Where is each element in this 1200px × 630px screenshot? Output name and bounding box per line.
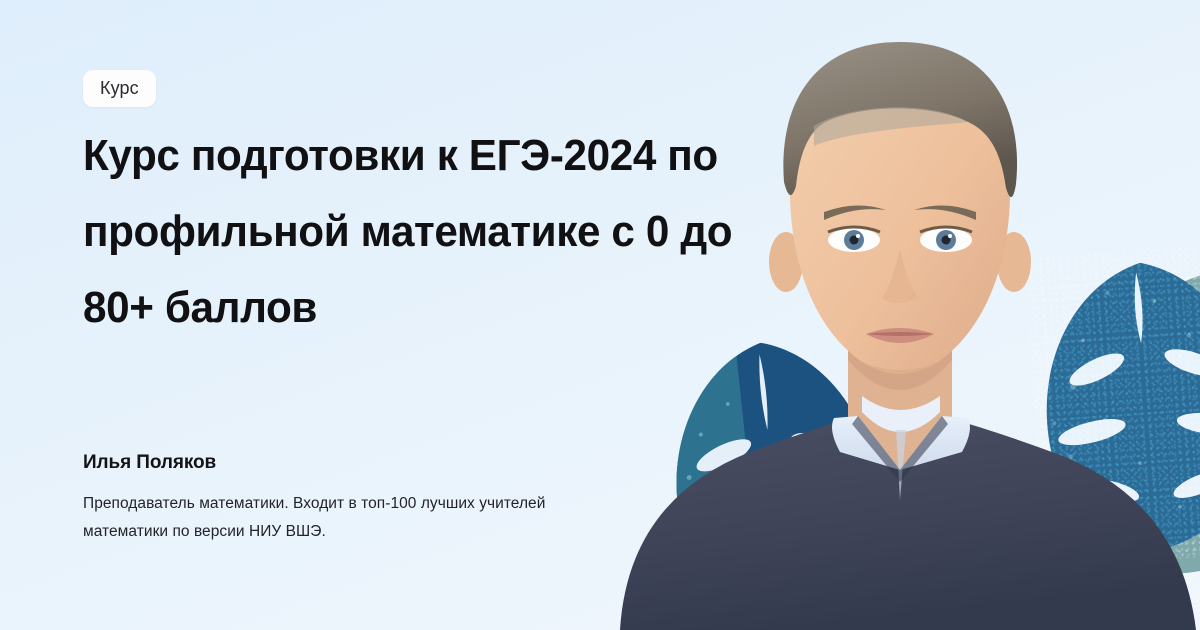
page-title: Курс подготовки к ЕГЭ-2024 по профильной… xyxy=(83,118,784,346)
course-promo-card: Курс Курс подготовки к ЕГЭ-2024 по профи… xyxy=(0,0,1200,630)
course-type-badge: Курс xyxy=(83,70,156,107)
author-name: Илья Поляков xyxy=(83,452,623,474)
author-description: Преподаватель математики. Входит в топ-1… xyxy=(83,490,623,546)
card-text-content: Курс Курс подготовки к ЕГЭ-2024 по профи… xyxy=(83,0,803,630)
author-block: Илья Поляков Преподаватель математики. В… xyxy=(83,452,623,546)
